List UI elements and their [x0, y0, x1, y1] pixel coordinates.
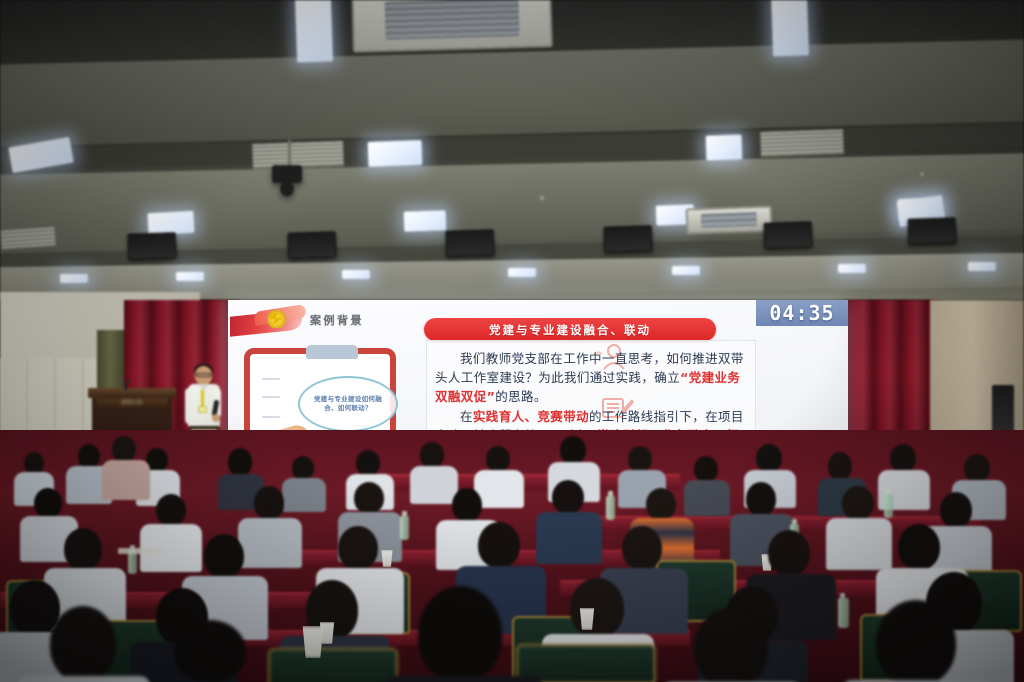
ceiling-speaker	[604, 225, 653, 253]
audience-head	[756, 444, 782, 472]
ceiling-sensor	[540, 196, 544, 200]
slide-banner-title: 党建与专业建设融合、联动	[489, 322, 651, 338]
audience-head	[746, 482, 776, 516]
water-bottle	[606, 496, 615, 520]
audience-head	[356, 450, 380, 476]
audience-torso	[536, 512, 602, 564]
audience-head	[842, 486, 874, 520]
audience-head	[964, 454, 990, 482]
ceiling-light	[508, 268, 536, 277]
audience-head	[940, 492, 972, 528]
audience-area	[0, 430, 1024, 682]
projector	[272, 165, 302, 183]
audience-head	[156, 494, 186, 526]
ac-vent	[0, 226, 57, 250]
slide-header-title: 案例背景	[310, 312, 364, 328]
audience-head	[694, 456, 718, 482]
clipboard-clip-icon	[306, 345, 358, 359]
presenter-hand	[212, 414, 220, 422]
water-bottle	[838, 598, 849, 628]
audience-torso	[684, 480, 730, 516]
audience-head	[112, 436, 136, 462]
ceiling-light	[295, 0, 333, 63]
audience-head	[50, 606, 116, 682]
ceiling-sensor	[920, 172, 924, 176]
audience-head	[628, 446, 652, 472]
presenter-lanyard	[201, 390, 204, 407]
audience-head	[34, 488, 62, 518]
slide-text-run: 的思路。	[495, 389, 547, 404]
ac-unit	[686, 206, 773, 235]
slide-paragraph-1: 我们教师党支部在工作中一直思考，如何推进双带头人工作室建设？为此我们通过实践，确…	[435, 349, 747, 406]
audience-head	[768, 530, 810, 576]
glasses-icon	[196, 373, 211, 377]
audience-head	[694, 608, 768, 682]
audience-torso	[238, 518, 302, 568]
audience-head	[898, 524, 940, 570]
ceiling-light	[706, 134, 743, 160]
countdown-timer-value: 04:35	[769, 301, 834, 325]
audience-head	[452, 488, 482, 522]
podium-top	[88, 388, 176, 398]
slide-text-run: 在	[460, 409, 473, 424]
clipboard-line	[262, 416, 280, 418]
audience-head	[876, 600, 956, 682]
audience-torso	[102, 460, 150, 500]
ceiling-light	[838, 264, 866, 273]
audience-torso	[826, 518, 892, 570]
audience-head	[552, 480, 584, 514]
projector-lens	[280, 182, 294, 196]
podium-placard: 案例分享	[96, 398, 168, 407]
audience-head	[78, 444, 100, 468]
ceiling-light	[771, 0, 809, 57]
audience-head	[570, 578, 624, 638]
ac-vent	[760, 129, 845, 158]
ceiling-speaker	[764, 221, 813, 249]
ceiling-light	[342, 270, 370, 279]
ceiling-speaker	[908, 217, 957, 245]
ceiling-light	[672, 266, 700, 275]
ceiling-light	[368, 140, 423, 167]
ac-unit	[351, 0, 553, 53]
audience-head	[486, 446, 510, 472]
audience-torso	[282, 478, 326, 512]
audience-head	[420, 442, 444, 468]
audience-head	[890, 444, 916, 472]
audience-head	[418, 586, 502, 682]
audience-chair	[516, 644, 656, 682]
handout-paper	[118, 548, 162, 554]
ceiling-light	[968, 262, 996, 271]
audience-torso	[18, 676, 150, 682]
water-bottle	[884, 494, 893, 518]
audience-head	[354, 482, 384, 514]
magnifier-bubble-icon: 党建与专业建设如何融合、如何联动？	[298, 376, 398, 432]
ceiling-light	[404, 210, 447, 231]
audience-head	[24, 452, 44, 474]
slide-banner: 党建与专业建设融合、联动	[424, 318, 716, 341]
ceiling-speaker	[288, 231, 337, 259]
audience-head	[828, 452, 852, 480]
audience-head	[64, 528, 102, 570]
ceiling	[0, 0, 1024, 300]
audience-head	[338, 526, 378, 570]
audience-head	[174, 620, 246, 682]
audience-head	[254, 486, 284, 520]
bubble-text: 党建与专业建设如何融合、如何联动？	[308, 395, 388, 413]
presentation-photo-scene: 案例分享 案例背景 党建与专业建设如何融合、如何联动？	[0, 0, 1024, 682]
audience-torso	[410, 466, 458, 504]
slide-text-highlight: 实践育人、竞赛带动	[473, 409, 589, 424]
ceiling-speaker	[446, 229, 495, 257]
audience-head	[478, 522, 520, 568]
clipboard-line	[262, 396, 280, 398]
audience-head	[560, 436, 586, 464]
audience-head	[228, 448, 252, 476]
clipboard-line	[262, 378, 280, 380]
projector-mount	[288, 140, 291, 166]
audience-head	[292, 456, 314, 480]
ceiling-light	[176, 272, 204, 281]
water-bottle	[400, 516, 409, 540]
party-emblem-icon	[266, 310, 288, 328]
ceiling-light	[60, 274, 88, 283]
audience-chair	[268, 648, 398, 682]
audience-head	[622, 526, 662, 570]
countdown-timer: 04:35	[756, 300, 848, 326]
presenter-arm-left	[185, 388, 193, 424]
audience-head	[204, 534, 244, 578]
audience-torso	[386, 676, 542, 682]
ceiling-speaker	[128, 232, 177, 260]
presenter-badge	[198, 406, 207, 413]
audience-head	[646, 488, 676, 520]
